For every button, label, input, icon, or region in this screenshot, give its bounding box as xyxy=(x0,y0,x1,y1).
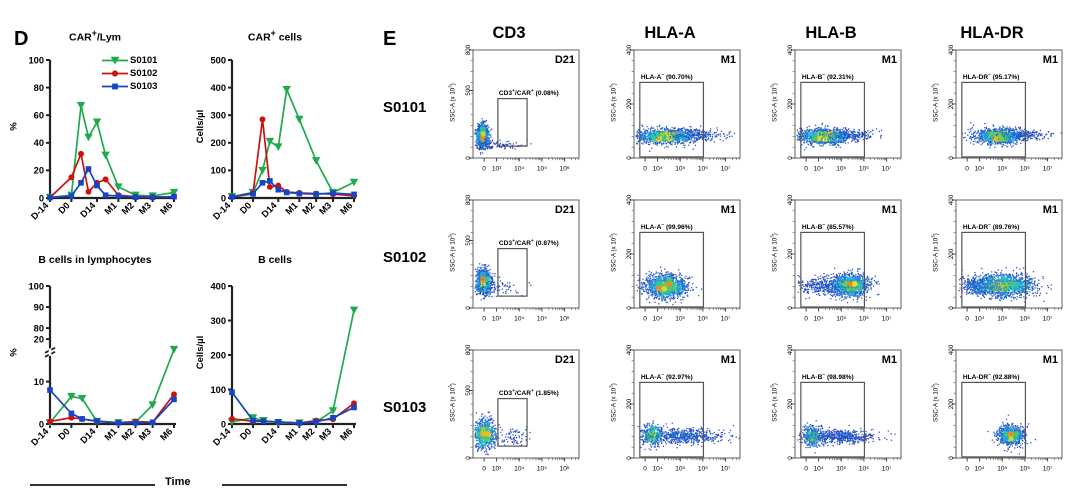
flow-x-tick-label: 10⁴ xyxy=(514,166,524,173)
legend-item-S0103[interactable]: S0103 xyxy=(102,80,157,93)
chart-car-cells: CAR+ cellsCells/µl0100200300400500D-14D0… xyxy=(186,26,364,244)
flow-corner-label: M1 xyxy=(1043,354,1058,366)
flow-corner-label: M1 xyxy=(1043,204,1058,216)
flow-plot-s0103-hla_a: 0200400010⁴10⁵10⁶10⁷SSC-A (x 103)M1HLA-A… xyxy=(604,344,744,484)
data-point-marker xyxy=(282,86,290,94)
legend-marker-icon xyxy=(102,80,128,93)
legend-label: S0101 xyxy=(130,55,157,66)
flow-y-tick-label: 400 xyxy=(948,344,955,355)
flow-y-tick-label: 0 xyxy=(787,156,794,160)
x-tick-label: M2 xyxy=(300,200,316,216)
data-point-marker xyxy=(69,193,75,199)
y-tick-label: 100 xyxy=(28,281,44,291)
data-point-marker xyxy=(93,119,101,127)
data-point-marker xyxy=(350,179,358,187)
flow-gate-label: HLA-DR− (89.76%) xyxy=(963,223,1020,231)
y-tick-label: 200 xyxy=(210,138,226,148)
x-tick-label: D0 xyxy=(238,426,253,441)
data-point-marker xyxy=(103,192,109,198)
flow-y-tick-label: 0 xyxy=(465,306,472,310)
x-tick-label: M6 xyxy=(338,426,354,442)
x-tick-label: D-14 xyxy=(211,426,233,448)
flow-corner-label: D21 xyxy=(555,54,575,66)
flow-x-tick-label: 10⁵ xyxy=(537,166,547,173)
data-point-marker xyxy=(112,84,118,90)
flow-x-tick-label: 10⁷ xyxy=(882,466,892,473)
y-tick-label: 80 xyxy=(34,323,44,333)
series-line-S0102 xyxy=(50,154,174,198)
data-point-marker xyxy=(116,193,122,199)
flow-gate-label: CD3+/CAR+ (0.87%) xyxy=(499,239,559,247)
flow-x-tick-label: 10⁵ xyxy=(675,466,685,473)
data-point-marker xyxy=(150,195,156,201)
x-tick-label: M2 xyxy=(120,200,136,216)
data-point-marker xyxy=(250,191,256,197)
flow-x-tick-label: 10⁵ xyxy=(997,466,1007,473)
flow-y-axis-name: SSC-A (x 103) xyxy=(769,80,778,126)
chart-bcells: B cellsCells/µl0100200300400D-14D0D14M1M… xyxy=(186,252,364,470)
flow-x-tick-label: 10⁴ xyxy=(653,166,663,173)
chart-legend: S0101S0102S0103 xyxy=(102,54,157,93)
flow-x-tick-label: 10⁶ xyxy=(698,166,708,173)
chart-bcells-in-lymphocytes: B cells in lymphocytes%010208090100D-14D… xyxy=(6,252,184,470)
flow-y-axis-name: SSC-A (x 103) xyxy=(447,80,456,126)
flow-corner-label: M1 xyxy=(1043,54,1058,66)
flow-y-tick-label: 800 xyxy=(465,194,472,205)
data-point-marker xyxy=(261,418,267,424)
flow-y-tick-label: 0 xyxy=(626,306,633,310)
flow-gate-label: HLA-B− (98.98%) xyxy=(802,373,854,381)
flow-x-tick-label: 0 xyxy=(804,466,808,473)
flow-plot-s0101-hla_b: 0200400010⁴10⁵10⁶10⁷SSC-A (x 103)M1HLA-B… xyxy=(765,44,905,184)
flow-x-tick-label: 10⁷ xyxy=(721,316,731,323)
flow-x-tick-label: 10⁷ xyxy=(721,166,731,173)
legend-label: S0103 xyxy=(130,81,157,92)
data-point-marker xyxy=(150,419,156,425)
time-bar-left xyxy=(30,484,155,486)
data-point-marker xyxy=(297,191,303,197)
flow-x-tick-label: 10⁴ xyxy=(975,316,985,323)
flow-y-axis-name: SSC-A (x 103) xyxy=(447,230,456,276)
data-point-marker xyxy=(275,419,281,425)
x-tick-label: M6 xyxy=(338,200,354,216)
flow-corner-label: M1 xyxy=(721,354,736,366)
flow-gate-label: HLA-A− (99.96%) xyxy=(641,223,693,231)
flow-gate-label: CD3+/CAR+ (0.08%) xyxy=(499,89,559,97)
flow-y-axis-name: SSC-A (x 103) xyxy=(930,80,939,126)
legend-item-S0101[interactable]: S0101 xyxy=(102,54,157,67)
chart-canvas: 0100200300400D-14D0D14M1M2M3M6 xyxy=(186,252,364,470)
data-point-marker xyxy=(250,418,256,424)
flow-y-tick-label: 0 xyxy=(626,156,633,160)
flow-plot-s0102-hla_dr: 0200400010⁴10⁵10⁶10⁷SSC-A (x 103)M1HLA-D… xyxy=(926,194,1066,334)
x-tick-label: M3 xyxy=(317,426,333,442)
flow-y-tick-label: 0 xyxy=(626,456,633,460)
flow-x-tick-label: 0 xyxy=(643,466,647,473)
flow-x-tick-label: 10⁴ xyxy=(653,466,663,473)
x-tick-label: M6 xyxy=(158,200,174,216)
data-point-marker xyxy=(79,416,85,422)
data-point-marker xyxy=(112,70,118,76)
flow-y-tick-label: 400 xyxy=(626,344,633,355)
flow-y-tick-label: 0 xyxy=(787,456,794,460)
flow-y-axis-name: SSC-A (x 103) xyxy=(608,230,617,276)
data-point-marker xyxy=(295,116,303,124)
flow-plot-s0102-cd3: 0500800010³10⁴10⁵10⁶SSC-A (x 103)D21CD3+… xyxy=(443,194,583,334)
data-point-marker xyxy=(260,180,266,186)
flow-x-tick-label: 10⁴ xyxy=(514,316,524,323)
series-line-S0101 xyxy=(50,106,174,198)
chart-car-lym: CAR+/Lym%020406080100D-14D0D14M1M2M3M6S0… xyxy=(6,26,184,244)
flow-y-tick-label: 500 xyxy=(465,235,472,246)
data-point-marker xyxy=(297,420,303,426)
flow-x-tick-label: 10⁶ xyxy=(698,316,708,323)
flow-plot-s0102-hla_b: 0200400010⁴10⁵10⁶10⁷SSC-A (x 103)M1HLA-B… xyxy=(765,194,905,334)
data-point-marker xyxy=(258,167,266,175)
flow-y-axis-name: SSC-A (x 103) xyxy=(608,80,617,126)
flow-y-axis-name: SSC-A (x 103) xyxy=(447,380,456,426)
data-point-marker xyxy=(350,307,358,315)
chart-canvas: 010208090100D-14D0D14M1M2M3M6 xyxy=(6,252,184,470)
y-tick-label: 200 xyxy=(210,350,226,360)
flow-x-tick-label: 0 xyxy=(804,166,808,173)
flow-y-tick-label: 500 xyxy=(465,85,472,96)
x-tick-label: D0 xyxy=(56,426,71,441)
data-point-marker xyxy=(351,192,357,198)
flow-x-tick-label: 10⁵ xyxy=(836,466,846,473)
y-tick-label: 10 xyxy=(34,377,44,387)
flow-y-tick-label: 0 xyxy=(465,156,472,160)
y-tick-label: 80 xyxy=(34,83,44,93)
flow-x-tick-label: 10⁶ xyxy=(1020,316,1030,323)
data-point-marker xyxy=(284,190,290,196)
flow-x-tick-label: 10³ xyxy=(492,316,502,323)
y-tick-label: 300 xyxy=(210,111,226,121)
flow-x-tick-label: 10⁶ xyxy=(1020,166,1030,173)
data-point-marker xyxy=(68,174,74,180)
flow-x-tick-label: 10⁴ xyxy=(814,316,824,323)
flow-x-tick-label: 0 xyxy=(965,316,969,323)
y-tick-label: 40 xyxy=(34,138,44,148)
y-tick-label: 100 xyxy=(28,55,44,65)
series-line-S0102 xyxy=(232,119,354,197)
data-point-marker xyxy=(103,176,109,182)
flow-y-axis-name: SSC-A (x 103) xyxy=(930,230,939,276)
flow-x-tick-label: 0 xyxy=(482,166,486,173)
data-point-marker xyxy=(267,178,273,184)
data-point-marker xyxy=(275,187,281,193)
flow-column-header-hla_a: HLA-A xyxy=(600,24,740,43)
flow-gate-label: HLA-A− (92.97%) xyxy=(641,373,693,381)
series-line-S0101 xyxy=(232,310,354,423)
data-point-marker xyxy=(94,418,100,424)
x-tick-label: D-14 xyxy=(29,426,51,448)
x-tick-label: D14 xyxy=(260,200,280,220)
flow-column-header-hla_b: HLA-B xyxy=(761,24,901,43)
flow-x-tick-label: 10⁷ xyxy=(882,166,892,173)
data-point-marker xyxy=(69,411,75,417)
data-point-marker xyxy=(171,397,177,403)
flow-corner-label: D21 xyxy=(555,354,575,366)
flow-gate-label: HLA-B− (85.57%) xyxy=(802,223,854,231)
flow-corner-label: M1 xyxy=(721,204,736,216)
flow-gate-label: HLA-DR− (92.88%) xyxy=(963,373,1020,381)
flow-x-tick-label: 0 xyxy=(965,466,969,473)
data-point-marker xyxy=(229,389,235,395)
x-tick-label: D0 xyxy=(56,200,71,215)
flow-gate-label: CD3+/CAR+ (1.85%) xyxy=(499,389,559,397)
flow-y-axis-name: SSC-A (x 103) xyxy=(769,380,778,426)
data-point-marker xyxy=(330,415,336,421)
flow-gate-label: HLA-A− (90.70%) xyxy=(641,73,693,81)
y-tick-label: 60 xyxy=(34,111,44,121)
flow-plot-s0101-cd3: 0500800010³10⁴10⁵10⁶SSC-A (x 103)D21CD3+… xyxy=(443,44,583,184)
flow-x-tick-label: 10⁷ xyxy=(1043,316,1053,323)
flow-gate-label: HLA-B− (92.31%) xyxy=(802,73,854,81)
flow-y-tick-label: 0 xyxy=(787,306,794,310)
flow-x-tick-label: 10⁵ xyxy=(997,316,1007,323)
flow-y-axis-name: SSC-A (x 103) xyxy=(769,230,778,276)
flow-x-tick-label: 10⁷ xyxy=(1043,166,1053,173)
data-point-marker xyxy=(312,157,320,165)
flow-y-tick-label: 0 xyxy=(948,306,955,310)
data-point-marker xyxy=(114,183,122,191)
x-tick-label: D14 xyxy=(78,426,98,446)
y-tick-label: 100 xyxy=(210,385,226,395)
data-point-marker xyxy=(133,420,139,426)
x-tick-label: D-14 xyxy=(29,200,51,222)
flow-x-tick-label: 10⁶ xyxy=(1020,466,1030,473)
flow-x-tick-label: 10⁶ xyxy=(560,466,570,473)
data-point-marker xyxy=(229,416,235,422)
data-point-marker xyxy=(330,190,336,196)
flow-row-header-s0101: S0101 xyxy=(383,99,426,116)
flow-x-tick-label: 10⁶ xyxy=(859,166,869,173)
flow-x-tick-label: 10⁴ xyxy=(814,466,824,473)
data-point-marker xyxy=(78,180,84,186)
flow-plot-s0103-hla_b: 0200400010⁴10⁵10⁶10⁷SSC-A (x 103)M1HLA-B… xyxy=(765,344,905,484)
flow-corner-label: D21 xyxy=(555,204,575,216)
flow-x-tick-label: 10⁴ xyxy=(814,166,824,173)
data-point-marker xyxy=(260,116,266,122)
flow-y-tick-label: 400 xyxy=(787,44,794,55)
flow-x-tick-label: 10³ xyxy=(492,166,502,173)
flow-x-tick-label: 0 xyxy=(643,316,647,323)
data-point-marker xyxy=(229,194,235,200)
x-tick-label: M3 xyxy=(137,426,153,442)
y-tick-label: 400 xyxy=(210,281,226,291)
flow-x-tick-label: 10⁶ xyxy=(560,316,570,323)
flow-corner-label: M1 xyxy=(882,354,897,366)
data-point-marker xyxy=(170,346,178,354)
x-tick-label: M2 xyxy=(120,426,136,442)
data-point-marker xyxy=(77,102,85,110)
flow-x-tick-label: 10⁶ xyxy=(859,466,869,473)
flow-row-header-s0103: S0103 xyxy=(383,399,426,416)
flow-corner-label: M1 xyxy=(882,54,897,66)
x-tick-label: M2 xyxy=(300,426,316,442)
flow-y-tick-label: 400 xyxy=(948,194,955,205)
flow-x-tick-label: 10⁵ xyxy=(997,166,1007,173)
x-tick-label: M6 xyxy=(158,426,174,442)
data-point-marker xyxy=(351,405,357,411)
data-point-marker xyxy=(47,387,53,393)
flow-y-tick-label: 400 xyxy=(787,344,794,355)
flow-y-tick-label: 800 xyxy=(465,44,472,55)
flow-column-header-cd3: CD3 xyxy=(439,24,579,43)
flow-y-tick-label: 400 xyxy=(948,44,955,55)
data-point-marker xyxy=(101,152,109,160)
flow-x-tick-label: 10⁶ xyxy=(859,316,869,323)
flow-y-tick-label: 0 xyxy=(948,456,955,460)
legend-marker-icon xyxy=(102,67,128,80)
x-tick-label: M1 xyxy=(103,200,119,216)
flow-x-tick-label: 10⁴ xyxy=(975,166,985,173)
flow-y-axis-name: SSC-A (x 103) xyxy=(930,380,939,426)
flow-y-tick-label: 0 xyxy=(948,156,955,160)
data-point-marker xyxy=(86,189,92,195)
flow-row-header-s0102: S0102 xyxy=(383,249,426,266)
x-tick-label: D14 xyxy=(78,200,98,220)
y-tick-label: 20 xyxy=(34,334,44,344)
data-point-marker xyxy=(171,194,177,200)
flow-x-tick-label: 10⁴ xyxy=(975,466,985,473)
flow-corner-label: M1 xyxy=(882,204,897,216)
y-tick-label: 90 xyxy=(34,302,44,312)
time-bar-right xyxy=(222,484,347,486)
figure-panel-D-E: D CAR+/Lym%020406080100D-14D0D14M1M2M3M6… xyxy=(0,0,1080,498)
flow-x-tick-label: 10⁴ xyxy=(514,466,524,473)
data-point-marker xyxy=(133,194,139,200)
data-point-marker xyxy=(78,151,84,157)
legend-marker-icon xyxy=(102,54,128,67)
series-line-S0101 xyxy=(232,90,354,197)
flow-x-tick-label: 10⁵ xyxy=(836,166,846,173)
flow-plot-s0103-cd3: 0500800010³10⁴10⁵10⁶SSC-A (x 103)D21CD3+… xyxy=(443,344,583,484)
flow-column-header-hla_dr: HLA-DR xyxy=(922,24,1062,43)
data-point-marker xyxy=(267,184,273,190)
x-tick-label: M3 xyxy=(137,200,153,216)
x-tick-label: M3 xyxy=(317,200,333,216)
legend-item-S0102[interactable]: S0102 xyxy=(102,67,157,80)
x-tick-label: M1 xyxy=(103,426,119,442)
flow-y-tick-label: 500 xyxy=(465,385,472,396)
flow-corner-label: M1 xyxy=(721,54,736,66)
data-point-marker xyxy=(84,134,92,142)
chart-canvas: 0100200300400500D-14D0D14M1M2M3M6 xyxy=(186,26,364,244)
flow-y-tick-label: 400 xyxy=(626,44,633,55)
x-tick-label: D0 xyxy=(238,200,253,215)
flow-y-tick-label: 400 xyxy=(626,194,633,205)
data-point-marker xyxy=(274,143,282,151)
flow-x-tick-label: 10⁵ xyxy=(537,466,547,473)
time-axis-label: Time xyxy=(165,476,190,488)
flow-x-tick-label: 0 xyxy=(965,166,969,173)
legend-label: S0102 xyxy=(130,68,157,79)
flow-plot-s0101-hla_a: 0200400010⁴10⁵10⁶10⁷SSC-A (x 103)M1HLA-A… xyxy=(604,44,744,184)
data-point-marker xyxy=(313,191,319,197)
x-tick-label: D14 xyxy=(260,426,280,446)
y-tick-label: 20 xyxy=(34,166,44,176)
flow-x-tick-label: 0 xyxy=(643,166,647,173)
y-tick-label: 400 xyxy=(210,83,226,93)
data-point-marker xyxy=(94,183,100,189)
flow-x-tick-label: 10⁶ xyxy=(560,166,570,173)
data-point-marker xyxy=(47,195,53,201)
y-tick-label: 100 xyxy=(210,166,226,176)
flow-x-tick-label: 10⁷ xyxy=(721,466,731,473)
flow-x-tick-label: 10⁵ xyxy=(675,316,685,323)
flow-x-tick-label: 10³ xyxy=(492,466,502,473)
panel-letter-e: E xyxy=(383,28,396,51)
data-point-marker xyxy=(86,166,92,172)
flow-x-tick-label: 0 xyxy=(804,316,808,323)
data-point-marker xyxy=(171,391,177,397)
flow-y-tick-label: 800 xyxy=(465,344,472,355)
flow-x-tick-label: 10⁴ xyxy=(653,316,663,323)
flow-plot-s0101-hla_dr: 0200400010⁴10⁵10⁶10⁷SSC-A (x 103)M1HLA-D… xyxy=(926,44,1066,184)
flow-x-tick-label: 10⁵ xyxy=(836,316,846,323)
y-tick-label: 500 xyxy=(210,55,226,65)
flow-x-tick-label: 10⁵ xyxy=(537,316,547,323)
flow-x-tick-label: 10⁵ xyxy=(675,166,685,173)
y-tick-label: 300 xyxy=(210,316,226,326)
flow-y-axis-name: SSC-A (x 103) xyxy=(608,380,617,426)
flow-gate-label: HLA-DR− (95.17%) xyxy=(963,73,1020,81)
x-tick-label: M1 xyxy=(284,426,300,442)
flow-y-tick-label: 0 xyxy=(465,456,472,460)
data-point-marker xyxy=(313,419,319,425)
flow-y-tick-label: 400 xyxy=(787,194,794,205)
flow-x-tick-label: 10⁷ xyxy=(1043,466,1053,473)
flow-plot-s0102-hla_a: 0200400010⁴10⁵10⁶10⁷SSC-A (x 103)M1HLA-A… xyxy=(604,194,744,334)
flow-x-tick-label: 0 xyxy=(482,466,486,473)
data-point-marker xyxy=(116,420,122,426)
flow-x-tick-label: 0 xyxy=(482,316,486,323)
data-point-marker xyxy=(47,418,53,424)
flow-x-tick-label: 10⁶ xyxy=(698,466,708,473)
x-tick-label: D-14 xyxy=(211,200,233,222)
flow-plot-s0103-hla_dr: 0200400010⁴10⁵10⁶10⁷SSC-A (x 103)M1HLA-D… xyxy=(926,344,1066,484)
x-tick-label: M1 xyxy=(284,200,300,216)
flow-x-tick-label: 10⁷ xyxy=(882,316,892,323)
